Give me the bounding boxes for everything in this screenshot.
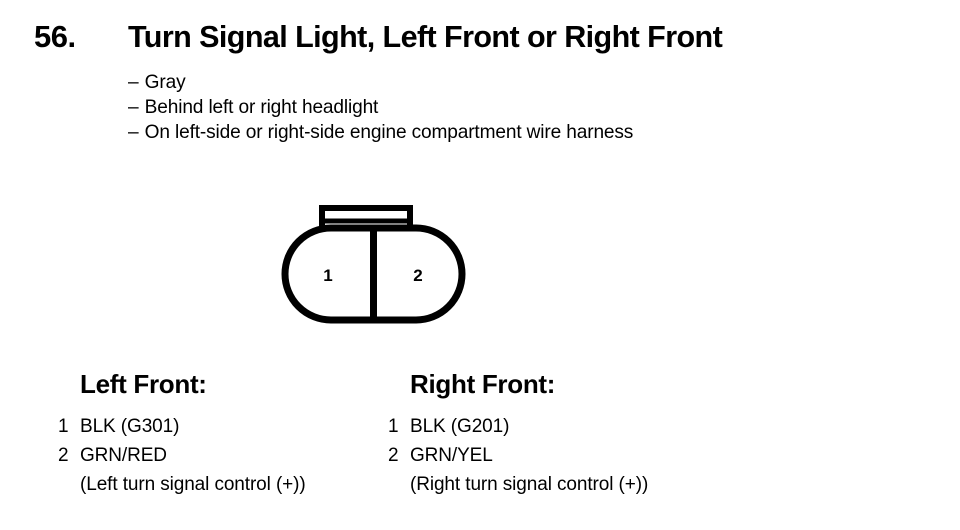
dash-bullet-icon: –: [128, 70, 145, 95]
page-title: Turn Signal Light, Left Front or Right F…: [128, 18, 722, 56]
pin-label-1: 1: [323, 266, 332, 285]
pin-rows: 1 BLK (G201) 2 GRN/YEL (Right turn signa…: [388, 412, 648, 499]
table-row: 1 BLK (G301): [58, 412, 306, 441]
dash-bullet-icon: –: [128, 95, 145, 120]
list-item-label: Behind left or right headlight: [145, 96, 379, 118]
pin-wire: GRN/RED: [80, 441, 167, 470]
pin-wire: BLK (G301): [80, 412, 179, 441]
pin-label-2: 2: [413, 266, 422, 285]
list-item-label: On left-side or right-side engine compar…: [145, 121, 634, 143]
dash-bullet-icon: –: [128, 120, 145, 145]
pin-wire: BLK (G201): [410, 412, 509, 441]
pin-wire: GRN/YEL: [410, 441, 493, 470]
pin-index: 1: [58, 412, 80, 441]
attribute-list: –Gray –Behind left or right headlight –O…: [128, 70, 918, 145]
column-heading: Right Front:: [410, 368, 648, 400]
pin-rows: 1 BLK (G301) 2 GRN/RED (Left turn signal…: [58, 412, 306, 499]
table-row: 1 BLK (G201): [388, 412, 648, 441]
pin-index: 2: [388, 441, 410, 470]
column-heading: Left Front:: [80, 368, 306, 400]
pinout-columns: Left Front: 1 BLK (G301) 2 GRN/RED (Left…: [0, 368, 960, 518]
pin-index: 1: [388, 412, 410, 441]
list-item: –On left-side or right-side engine compa…: [128, 120, 902, 145]
table-row: 2 GRN/RED: [58, 441, 306, 470]
table-row: 2 GRN/YEL: [388, 441, 648, 470]
connector-diagram: 1 2: [278, 200, 478, 330]
entry-row: 56. Turn Signal Light, Left Front or Rig…: [34, 18, 934, 58]
pin-index: 2: [58, 441, 80, 470]
list-item-label: Gray: [145, 71, 186, 93]
list-item: –Behind left or right headlight: [128, 95, 902, 120]
pin-note: (Right turn signal control (+)): [410, 470, 648, 499]
pinout-column-right-front: Right Front: 1 BLK (G201) 2 GRN/YEL (Rig…: [388, 368, 648, 499]
pinout-column-left-front: Left Front: 1 BLK (G301) 2 GRN/RED (Left…: [58, 368, 306, 499]
list-item: –Gray: [128, 70, 902, 95]
entry-number: 56.: [34, 18, 76, 56]
pin-note: (Left turn signal control (+)): [80, 470, 306, 499]
